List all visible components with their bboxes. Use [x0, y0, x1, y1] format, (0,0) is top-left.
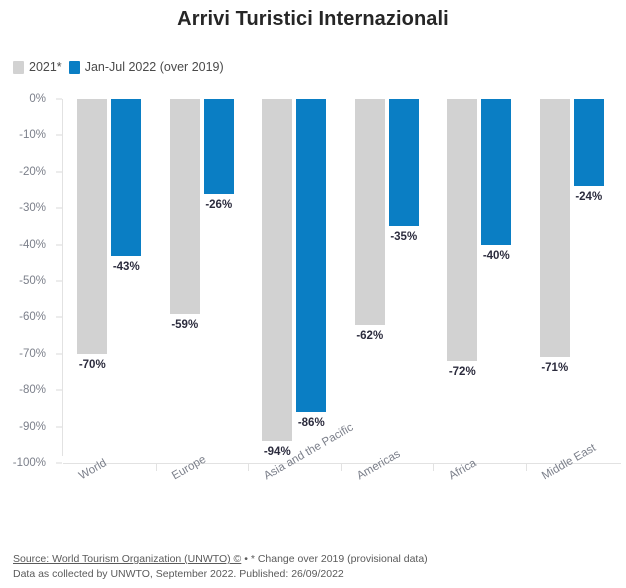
- bar-2022[interactable]: [574, 99, 604, 186]
- bar-2021[interactable]: [262, 99, 292, 441]
- y-axis-tick-label: -100%: [13, 457, 46, 469]
- y-axis-tick-label: 0%: [29, 93, 46, 105]
- chart-plot: 0%-10%-20%-30%-40%-50%-60%-70%-80%-90%-1…: [0, 92, 626, 472]
- footer-line-2: Data as collected by UNWTO, September 20…: [13, 567, 613, 582]
- bar-2021[interactable]: [77, 99, 107, 354]
- y-axis-tick-label: -30%: [19, 202, 46, 214]
- bar-data-label: -24%: [575, 191, 602, 203]
- bar-data-label: -70%: [79, 359, 106, 371]
- x-axis-tick-mark: [526, 464, 527, 471]
- legend-item-2021[interactable]: 2021*: [13, 60, 62, 74]
- x-axis: WorldEuropeAsia and the PacificAmericasA…: [63, 472, 618, 542]
- legend-label-2022: Jan-Jul 2022 (over 2019): [85, 60, 224, 74]
- legend-label-2021: 2021*: [29, 60, 62, 74]
- bar-data-label: -43%: [113, 261, 140, 273]
- bar-data-label: -26%: [205, 199, 232, 211]
- bar-group: -59%-26%: [170, 99, 234, 463]
- bar-2021[interactable]: [540, 99, 570, 357]
- bar-data-label: -59%: [171, 319, 198, 331]
- bar-2022[interactable]: [389, 99, 419, 226]
- x-axis-tick-mark: [156, 464, 157, 471]
- footer: Source: World Tourism Organization (UNWT…: [13, 552, 613, 582]
- y-axis-tick-mark: [56, 463, 62, 464]
- y-axis-tick-label: -10%: [19, 129, 46, 141]
- y-axis-tick-label: -90%: [19, 421, 46, 433]
- bar-2022[interactable]: [481, 99, 511, 245]
- legend-item-2022[interactable]: Jan-Jul 2022 (over 2019): [69, 60, 224, 74]
- bar-data-label: -71%: [541, 362, 568, 374]
- y-axis-tick-label: -70%: [19, 348, 46, 360]
- y-axis-tick-label: -40%: [19, 239, 46, 251]
- bar-group: -72%-40%: [447, 99, 511, 463]
- bar-group: -70%-43%: [77, 99, 141, 463]
- footer-line-1: Source: World Tourism Organization (UNWT…: [13, 552, 613, 567]
- page-title: Arrivi Turistici Internazionali: [0, 8, 626, 31]
- source-note: • * Change over 2019 (provisional data): [241, 553, 427, 565]
- bar-data-label: -40%: [483, 250, 510, 262]
- bar-data-label: -35%: [390, 231, 417, 243]
- x-axis-tick-mark: [341, 464, 342, 471]
- x-axis-tick-mark: [248, 464, 249, 471]
- legend-swatch-2022: [69, 61, 80, 74]
- bar-2022[interactable]: [111, 99, 141, 256]
- bar-group: -94%-86%: [262, 99, 326, 463]
- bar-2021[interactable]: [355, 99, 385, 325]
- bar-data-label: -72%: [449, 366, 476, 378]
- chart-legend: 2021* Jan-Jul 2022 (over 2019): [13, 60, 224, 74]
- bar-group: -71%-24%: [540, 99, 604, 463]
- x-axis-tick-mark: [433, 464, 434, 471]
- x-axis-line: [63, 463, 621, 464]
- bar-data-label: -62%: [356, 330, 383, 342]
- bar-group: -62%-35%: [355, 99, 419, 463]
- y-axis: 0%-10%-20%-30%-40%-50%-60%-70%-80%-90%-1…: [0, 92, 56, 464]
- y-axis-tick-label: -20%: [19, 166, 46, 178]
- y-axis-tick-label: -80%: [19, 384, 46, 396]
- y-axis-tick-label: -50%: [19, 275, 46, 287]
- y-axis-tick-label: -60%: [19, 311, 46, 323]
- legend-swatch-2021: [13, 61, 24, 74]
- bar-2021[interactable]: [170, 99, 200, 314]
- plot-area: -70%-43%-59%-26%-94%-86%-62%-35%-72%-40%…: [63, 99, 618, 463]
- bar-2022[interactable]: [204, 99, 234, 194]
- source-link[interactable]: Source: World Tourism Organization (UNWT…: [13, 553, 241, 565]
- bar-2021[interactable]: [447, 99, 477, 361]
- bar-data-label: -86%: [298, 417, 325, 429]
- bar-2022[interactable]: [296, 99, 326, 412]
